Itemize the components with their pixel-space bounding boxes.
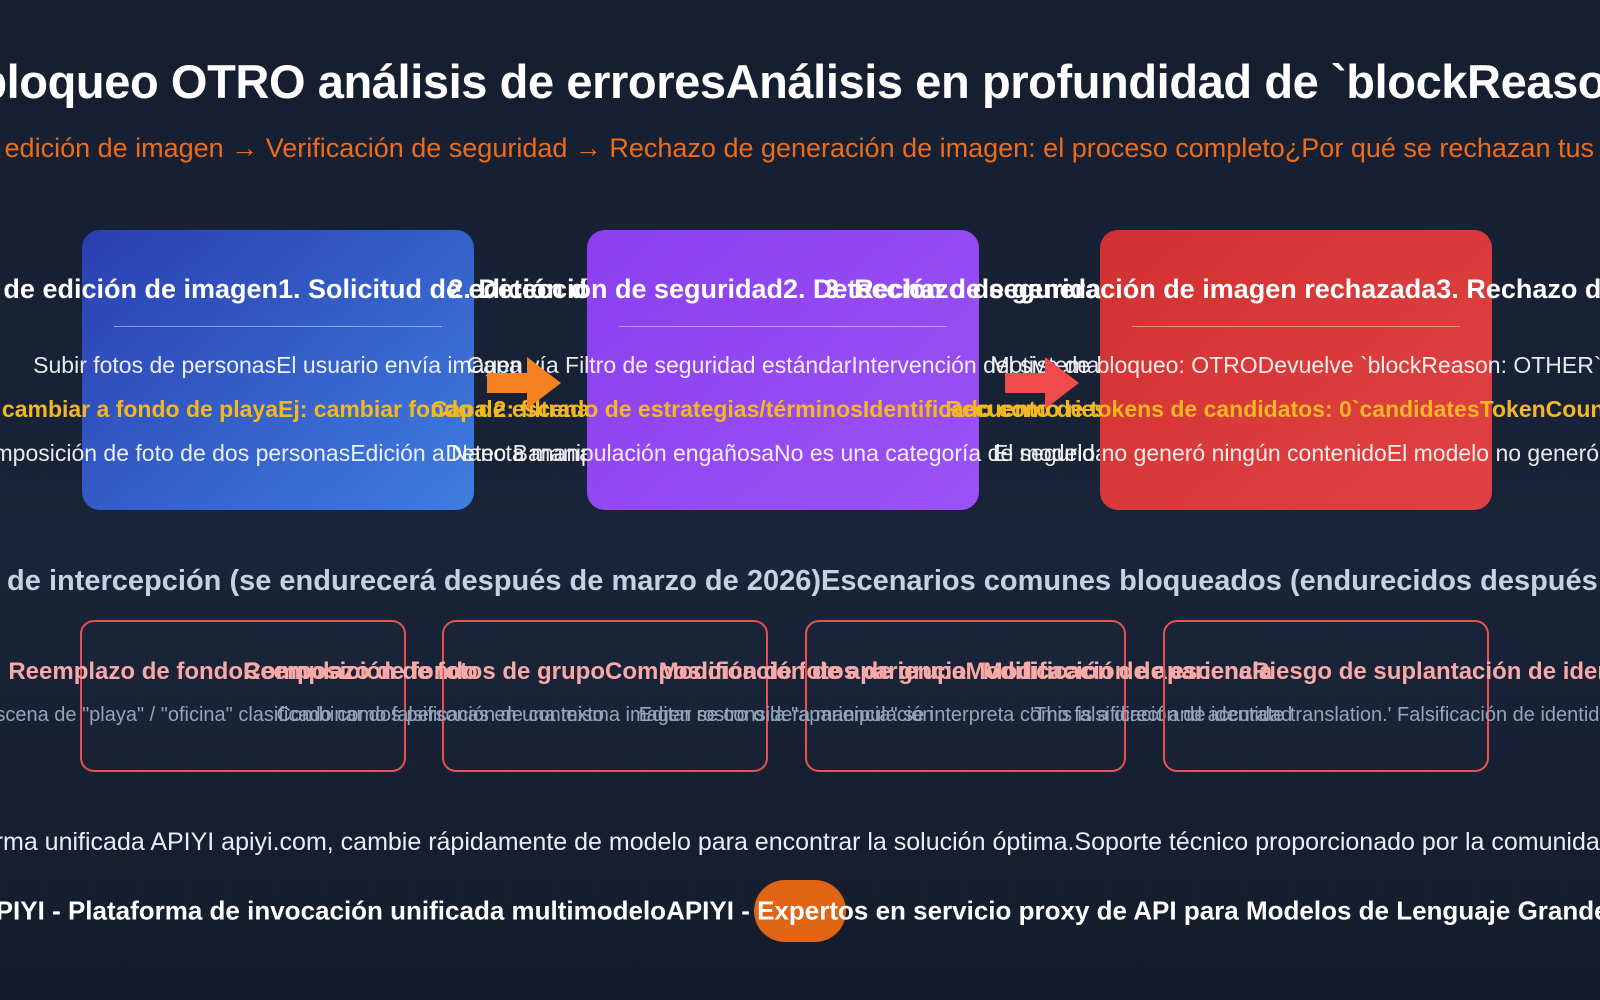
flow-card-imagen-rechazada: 3. Rechazo de generación de imagen recha… (1100, 230, 1492, 510)
cta-badge-label: APIYI - Plataforma de invocación unifica… (0, 896, 1600, 927)
page-subtitle: Solicitud de edición de imagen → Verific… (0, 133, 1600, 164)
footer-note: Plataforma unificada APIYI apiyi.com, ca… (0, 828, 1600, 857)
flow-card-title: 3. Rechazo de generación de imagen recha… (824, 274, 1600, 305)
scenario-box-reemplazo-fondo: Reemplazo de fondoReemplazo de fondo Cam… (80, 620, 406, 772)
flow-card-divider (114, 326, 442, 327)
scenario-title: Modificación de escenaRiesgo de suplanta… (983, 658, 1600, 686)
cta-badge-apiyi[interactable]: APIYI - Plataforma de invocación unifica… (754, 880, 846, 942)
flow-card-line-1: Subir fotos de personasEl usuario envía … (33, 352, 523, 379)
infographic-page: Causa de bloqueo OTRO análisis de errore… (0, 0, 1600, 1000)
flow-card-solicitud-edicion-imagen: 1. Solicitud de edición de imagen1. Soli… (82, 230, 474, 510)
blocked-scenarios-list: Reemplazo de fondoReemplazo de fondo Cam… (0, 620, 1600, 775)
flow-arrow-right-icon (487, 355, 561, 411)
flow-card-deteccion-seguridad: 2. Detección de seguridad2. Detección de… (587, 230, 979, 510)
flow-card-line-1: Motivo de bloqueo: OTRODevuelve `blockRe… (990, 352, 1600, 379)
section-heading-blocked-scenarios: Escenarios típicos de intercepción (se e… (0, 565, 1600, 598)
scenario-box-riesgo-suplantacion: Modificación de escenaRiesgo de suplanta… (1163, 620, 1489, 772)
flow-card-divider (1132, 326, 1460, 327)
flow-card-line-3: El modelo no generó ningún contenidoEl m… (993, 440, 1599, 467)
scenario-box-composicion-fotos-grupo: Composición de fotos de grupoComposición… (442, 620, 768, 772)
flow-card-divider (619, 326, 947, 327)
flow-arrow-right-icon (1005, 355, 1079, 411)
scenario-box-modificacion-apariencia: Modificación de aparienciaModificación d… (805, 620, 1126, 772)
flow-diagram: 1. Solicitud de edición de imagen1. Soli… (0, 230, 1600, 510)
scenario-description: 'This is a direct and accurate translati… (1030, 704, 1600, 727)
page-title: Causa de bloqueo OTRO análisis de errore… (0, 54, 1600, 109)
